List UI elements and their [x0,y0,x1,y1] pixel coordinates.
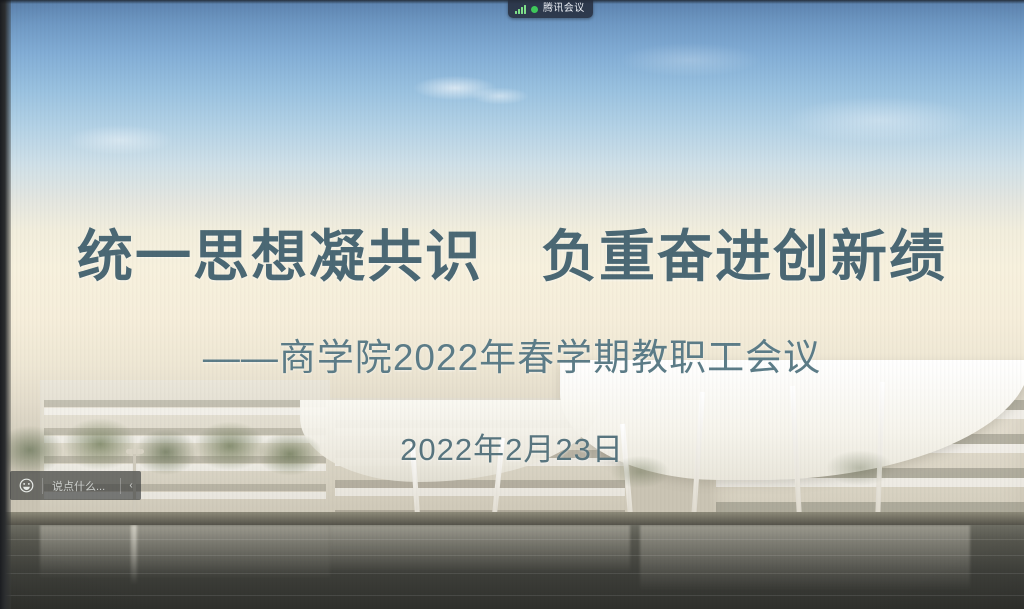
screen-photo: 统一思想凝共识 负重奋进创新绩 ——商学院2022年春学期教职工会议 2022年… [0,0,1024,609]
tree-line-far [560,438,1024,508]
monitor-bezel-left [0,0,11,609]
chat-input-bar[interactable]: 说点什么... ‹ [10,471,141,500]
smiley-face-icon[interactable] [10,471,42,500]
chevron-left-icon[interactable]: ‹ [121,471,141,500]
signal-bars-icon [515,5,526,14]
meeting-app-label: 腾讯会议 [543,4,585,14]
lake-water [0,525,1024,609]
campus-photo-band [0,352,1024,609]
chat-placeholder-text[interactable]: 说点什么... [43,478,120,494]
lake-embankment [0,512,1024,525]
tree-line-left [0,410,320,516]
lamp-head [126,449,144,454]
meeting-status-badge[interactable]: 腾讯会议 [508,0,593,18]
green-status-dot [531,6,538,13]
